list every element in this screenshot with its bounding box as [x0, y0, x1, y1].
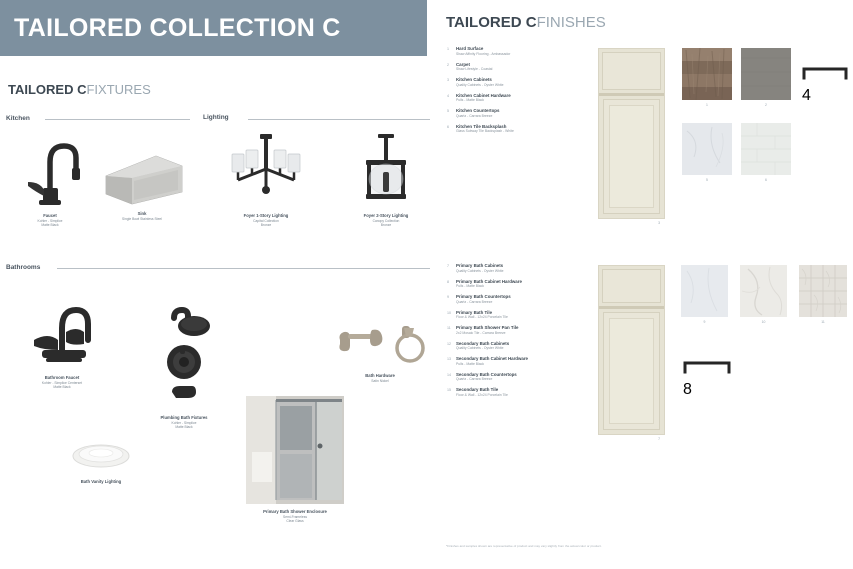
caption-sub2: Matte Black — [142, 425, 226, 429]
finish-number: 14 — [447, 373, 451, 377]
product-foyer-1story-light: Foyer 1-Story Lighting Capital Collectio… — [218, 128, 314, 228]
bar-pull-icon — [802, 66, 848, 82]
caption-sub2: Bronze — [340, 223, 432, 227]
flush-mount-light-icon — [55, 440, 147, 474]
finish-description: Floor & Wall - 12x24 Porcelain Tile — [456, 315, 528, 319]
bar-pull-icon — [683, 360, 731, 376]
wood-plank-texture — [682, 48, 732, 100]
swatch-tag: 10 — [762, 320, 766, 324]
swatch-tag: 2 — [765, 103, 767, 107]
product-bath-hardware: Bath Hardware Satin Nickel — [330, 318, 430, 383]
finish-description: Quartz - Carrara Breeze — [456, 377, 528, 381]
finishes-title-light: FINISHES — [537, 14, 606, 31]
finish-number: 12 — [447, 342, 451, 346]
marble-tile-texture — [740, 265, 787, 317]
fixtures-section-title: TAILORED CFIXTURES — [8, 82, 151, 97]
finish-description: Shaw Affinity Flooring - Ambassador — [456, 52, 514, 56]
finish-description: Shaw Lifestyle - Coastal — [456, 67, 514, 71]
finish-number: 4 — [447, 94, 449, 98]
swatch-kitchen-backsplash[interactable]: 6 — [741, 123, 791, 175]
swatch-carpet[interactable]: 2 — [741, 48, 791, 100]
finish-description: Quality Cabinets - Oyster White — [456, 269, 528, 273]
swatch-bath-cabinet-pull[interactable]: 8 — [683, 360, 731, 376]
bathroom-faucet-icon — [14, 288, 110, 370]
caption-sub2: Matte Black — [14, 385, 110, 389]
caption-sub2: Matte Black — [10, 223, 90, 227]
product-kitchen-faucet: Faucet Kohler - Simplice Matte Black — [10, 130, 90, 228]
finish-number: 1 — [447, 47, 449, 51]
swatch-kitchen-cabinet-door[interactable]: 3 — [598, 48, 665, 219]
finish-number: 5 — [447, 109, 449, 113]
lantern-pendant-icon — [340, 128, 432, 208]
finish-description: Pulls - Matte Black — [456, 98, 514, 102]
finish-number: 9 — [447, 295, 449, 299]
shower-trim-icon — [142, 300, 226, 410]
finish-description: Quality Cabinets - Oyster White — [456, 346, 528, 350]
finish-description: Glass Subway Tile Backsplash - White — [456, 129, 514, 133]
product-shower-enclosure: Primary Bath Shower Enclosure Semi-Frame… — [240, 396, 350, 524]
swatch-tag: 3 — [658, 221, 660, 225]
finish-description: Pulls - Matte Black — [456, 362, 528, 366]
door-panel-inner — [609, 105, 654, 208]
finish-number: 15 — [447, 388, 451, 392]
finish-number: 3 — [447, 78, 449, 82]
finish-description: Floor & Wall - 12x24 Porcelain Tile — [456, 393, 528, 397]
finish-list-item[interactable]: 12Secondary Bath CabinetsQuality Cabinet… — [447, 341, 528, 351]
collection-header-bar: TAILORED COLLECTION C — [0, 0, 427, 56]
finish-description: Pulls - Matte Black — [456, 284, 528, 288]
swatch-bath-tile[interactable]: 10 — [740, 265, 787, 317]
finish-list-item[interactable]: 3Kitchen CabinetsQuality Cabinets - Oyst… — [447, 77, 514, 87]
door-top-rail — [602, 52, 661, 90]
chandelier-icon — [218, 128, 314, 208]
section-label-bathrooms: Bathrooms — [6, 264, 40, 271]
caption-sub1: Satin Nickel — [330, 379, 430, 383]
finish-list-item[interactable]: 10Primary Bath TileFloor & Wall - 12x24 … — [447, 310, 528, 320]
finish-list-bath: 7Primary Bath CabinetsQuality Cabinets -… — [447, 263, 528, 403]
finish-description: 2x2 Mosaic Tile - Carrara Breeze — [456, 331, 528, 335]
caption-sub2: Bronze — [218, 223, 314, 227]
swatch-tag: 7 — [658, 437, 660, 441]
swatch-tag: 4 — [802, 87, 811, 104]
towel-bar-ring-icon — [330, 318, 430, 368]
finish-list-item[interactable]: 2CarpetShaw Lifestyle - Coastal — [447, 62, 514, 72]
section-label-kitchen: Kitchen — [6, 115, 30, 122]
section-rule-lighting — [248, 119, 430, 120]
finish-number: 11 — [447, 326, 451, 330]
finishes-title-bold: TAILORED C — [446, 14, 537, 31]
sink-icon — [98, 148, 186, 206]
finish-list-item[interactable]: 1Hard SurfaceShaw Affinity Flooring - Am… — [447, 46, 514, 56]
finish-description: Quartz - Carrara Breeze — [456, 300, 528, 304]
finish-title: Primary Bath Shower Pan Tile — [456, 325, 528, 331]
quartz-texture — [682, 123, 732, 175]
swatch-tag: 5 — [706, 178, 708, 182]
finish-number: 13 — [447, 357, 451, 361]
mosaic-tile-texture — [799, 265, 847, 317]
finish-list-item[interactable]: 9Primary Bath CountertopsQuartz - Carrar… — [447, 294, 528, 304]
disclaimer-text: *Finishes and samples shown are represen… — [446, 544, 846, 549]
swatch-kitchen-countertop[interactable]: 5 — [682, 123, 732, 175]
caption-sub1: Single Bowl Stainless Steel — [98, 217, 186, 221]
carpet-texture — [741, 48, 791, 100]
product-foyer-2story-light: Foyer 2-Story Lighting Canopy Collection… — [340, 128, 432, 228]
door-panel-outer — [603, 312, 660, 430]
product-bath-vanity-lighting: Bath Vanity Lighting — [55, 440, 147, 485]
finish-list-item[interactable]: 6Kitchen Tile BacksplashGlass Subway Til… — [447, 124, 514, 134]
door-panel-inner — [609, 318, 654, 424]
product-kitchen-sink: Sink Single Bowl Stainless Steel — [98, 148, 186, 221]
swatch-tag: 1 — [706, 103, 708, 107]
finish-number: 7 — [447, 264, 449, 268]
finish-number: 6 — [447, 125, 449, 129]
door-gap — [599, 93, 664, 96]
finish-description: Quartz - Carrara Breeze — [456, 114, 514, 118]
swatch-kitchen-cabinet-pull[interactable]: 4 — [802, 66, 848, 82]
swatch-tag: 11 — [821, 320, 825, 324]
finish-description: Quality Cabinets - Oyster White — [456, 83, 514, 87]
swatch-tag: 6 — [765, 178, 767, 182]
product-bathroom-faucet: Bathroom Faucet Kohler - Simplice Center… — [14, 288, 110, 390]
swatch-shower-pan-mosaic[interactable]: 11 — [799, 265, 847, 317]
finish-list-item[interactable]: 8Primary Bath Cabinet HardwarePulls - Ma… — [447, 279, 528, 289]
finish-list-item[interactable]: 5Kitchen CountertopsQuartz - Carrara Bre… — [447, 108, 514, 118]
finish-number: 2 — [447, 63, 449, 67]
door-top-rail — [602, 269, 661, 303]
page-title: TAILORED COLLECTION C — [14, 14, 341, 43]
finish-list-item[interactable]: 15Secondary Bath TileFloor & Wall - 12x2… — [447, 387, 528, 397]
swatch-bath-cabinet-door[interactable]: 7 — [598, 265, 665, 435]
finish-list-kitchen: 1Hard SurfaceShaw Affinity Flooring - Am… — [447, 46, 514, 139]
section-rule-bathrooms — [57, 268, 430, 269]
product-plumbing-bath-fixtures: Plumbing Bath Fixtures Kohler - Simplice… — [142, 300, 226, 430]
shower-enclosure-photo — [240, 396, 350, 504]
finish-list-item[interactable]: 13Secondary Bath Cabinet HardwarePulls -… — [447, 356, 528, 366]
finish-list-item[interactable]: 14Secondary Bath CountertopsQuartz - Car… — [447, 372, 528, 382]
finish-number: 10 — [447, 311, 451, 315]
finishes-section-title: TAILORED CFINISHES — [446, 14, 606, 31]
faucet-icon — [10, 130, 90, 208]
section-rule-kitchen — [45, 119, 190, 120]
swatch-bath-countertop[interactable]: 9 — [681, 265, 728, 317]
caption-sub2: Clear Glass — [240, 519, 350, 523]
fixtures-title-light: FIXTURES — [86, 82, 150, 97]
caption-name: Bath Vanity Lighting — [55, 479, 147, 485]
finish-list-item[interactable]: 7Primary Bath CabinetsQuality Cabinets -… — [447, 263, 528, 273]
door-panel-outer — [603, 99, 660, 214]
white-quartz-texture — [681, 265, 728, 317]
swatch-tag: 8 — [683, 381, 692, 398]
finish-list-item[interactable]: 11Primary Bath Shower Pan Tile2x2 Mosaic… — [447, 325, 528, 335]
door-gap — [599, 306, 664, 309]
section-label-lighting: Lighting — [203, 114, 229, 121]
swatch-hard-surface-flooring[interactable]: 1 — [682, 48, 732, 100]
finish-list-item[interactable]: 4Kitchen Cabinet HardwarePulls - Matte B… — [447, 93, 514, 103]
swatch-tag: 9 — [704, 320, 706, 324]
fixtures-title-bold: TAILORED C — [8, 82, 86, 97]
finish-number: 8 — [447, 280, 449, 284]
subway-tile-texture — [741, 123, 791, 175]
